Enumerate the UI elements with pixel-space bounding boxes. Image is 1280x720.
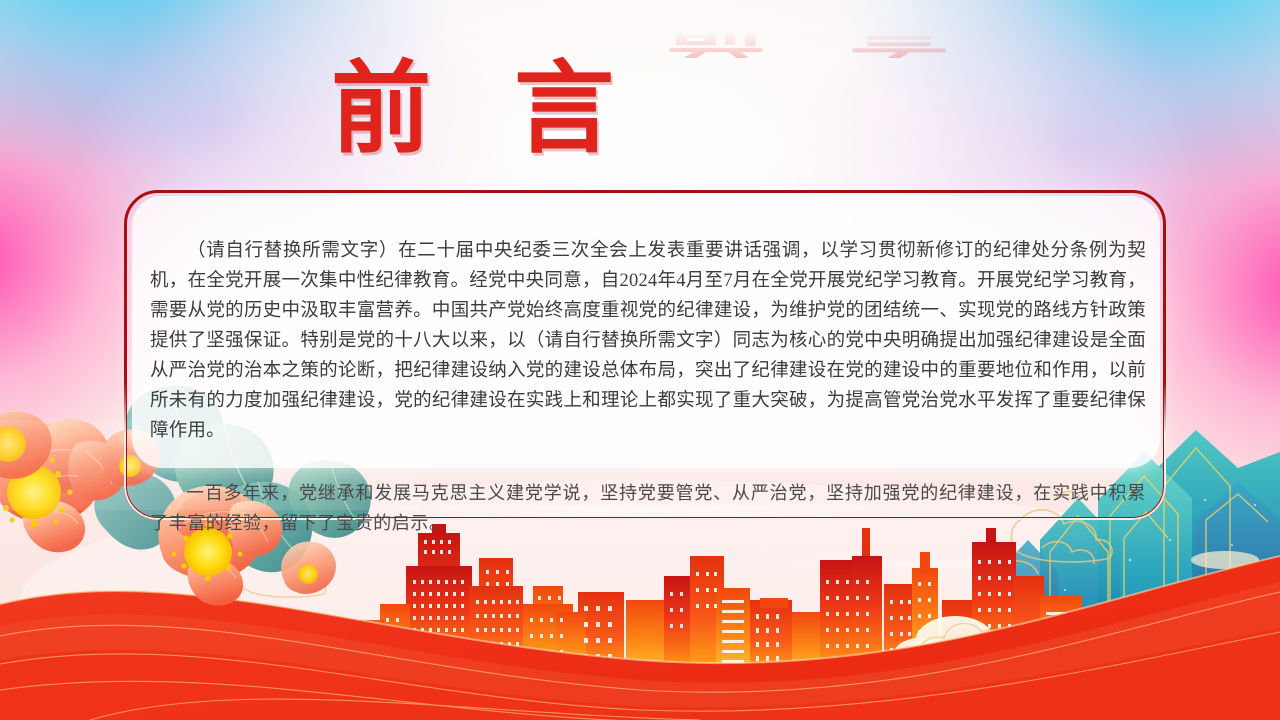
city-skyline bbox=[356, 524, 1082, 680]
white-clouds bbox=[894, 616, 1030, 678]
paragraph-2: 一百多年来，党继承和发展马克思主义建党学说，坚持党要管党、从严治党，坚持加强党的… bbox=[150, 478, 1146, 538]
body-text-block: （请自行替换所需文字）在二十届中央纪委三次全会上发表重要讲话强调，以学习贯彻新修… bbox=[150, 236, 1146, 538]
title-block: 前 言 前 言 bbox=[0, 58, 1280, 160]
page-title: 前 言 bbox=[307, 58, 638, 160]
paragraph-1: （请自行替换所需文字）在二十届中央纪委三次全会上发表重要讲话强调，以学习贯彻新修… bbox=[150, 236, 1146, 446]
light-streak bbox=[760, 560, 1280, 567]
red-ribbon-wave bbox=[0, 556, 1280, 720]
page-title-reflection: 前 言 bbox=[642, 15, 973, 58]
golden-clouds-left bbox=[239, 551, 326, 597]
slide-canvas: 前 言 前 言 （请自行替换所需文字）在二十届中央纪委三次全会上发表重要讲话强调… bbox=[0, 0, 1280, 720]
